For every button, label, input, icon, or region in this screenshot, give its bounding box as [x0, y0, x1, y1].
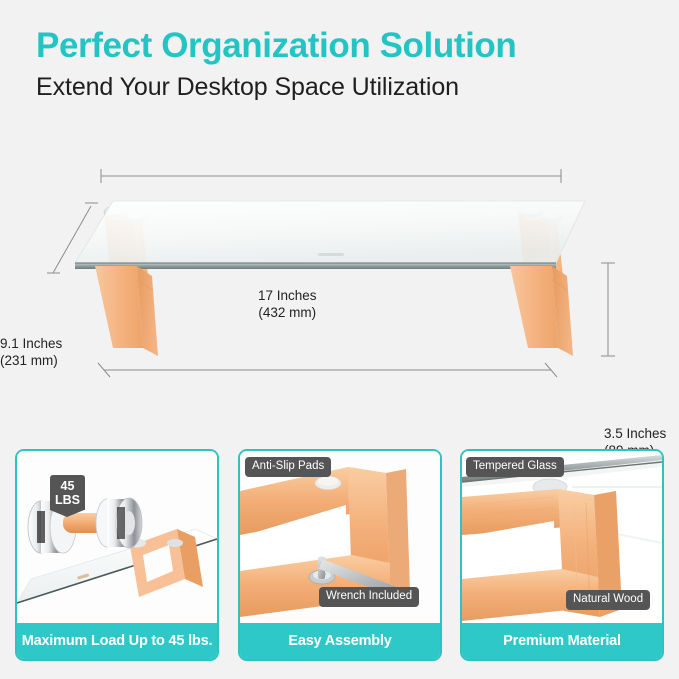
max-load-illustration	[17, 451, 217, 625]
stand-leg-right-lower	[510, 266, 573, 356]
page-title: Perfect Organization Solution	[36, 24, 656, 68]
card-caption-easy-assembly: Easy Assembly	[240, 623, 440, 659]
dimension-label-width-top: 17 Inches (432 mm)	[258, 288, 317, 321]
card-caption-premium-material: Premium Material	[462, 623, 662, 659]
page-subtitle: Extend Your Desktop Space Utilization	[36, 70, 656, 104]
load-badge-unit: LBS	[50, 493, 85, 507]
feature-cards: 45 LBS Maximum Load Up to 45 lbs.	[0, 449, 679, 663]
dimension-line-width-top	[101, 169, 561, 183]
tag-natural-wood: Natural Wood	[566, 590, 650, 610]
dimension-line-width-bottom	[98, 363, 557, 377]
stand-leg-left-lower	[95, 266, 158, 356]
tag-wrench-included: Wrench Included	[319, 587, 419, 607]
infographic-page: Perfect Organization Solution Extend You…	[0, 0, 679, 679]
dimension-line-height-right	[601, 263, 615, 356]
tag-anti-slip-pads: Anti-Slip Pads	[245, 457, 331, 477]
dimension-label-depth-left: 9.1 Inches (231 mm)	[0, 336, 62, 369]
tag-tempered-glass: Tempered Glass	[466, 457, 564, 477]
product-diagram: 17 Inches (432 mm) 9.1 Inches (231 mm) 3…	[0, 130, 679, 430]
feature-card-easy-assembly[interactable]: Anti-Slip Pads Wrench Included Easy Asse…	[238, 449, 442, 661]
load-badge: 45 LBS	[50, 475, 85, 510]
header: Perfect Organization Solution Extend You…	[36, 24, 656, 104]
load-badge-value: 45	[50, 479, 85, 493]
card-caption-max-load: Maximum Load Up to 45 lbs.	[17, 623, 217, 659]
feature-card-max-load[interactable]: 45 LBS Maximum Load Up to 45 lbs.	[15, 449, 219, 661]
monitor-stand-illustration	[0, 130, 679, 430]
tempered-glass-top	[75, 201, 585, 269]
feature-card-premium-material[interactable]: Tempered Glass Natural Wood Premium Mate…	[460, 449, 664, 661]
